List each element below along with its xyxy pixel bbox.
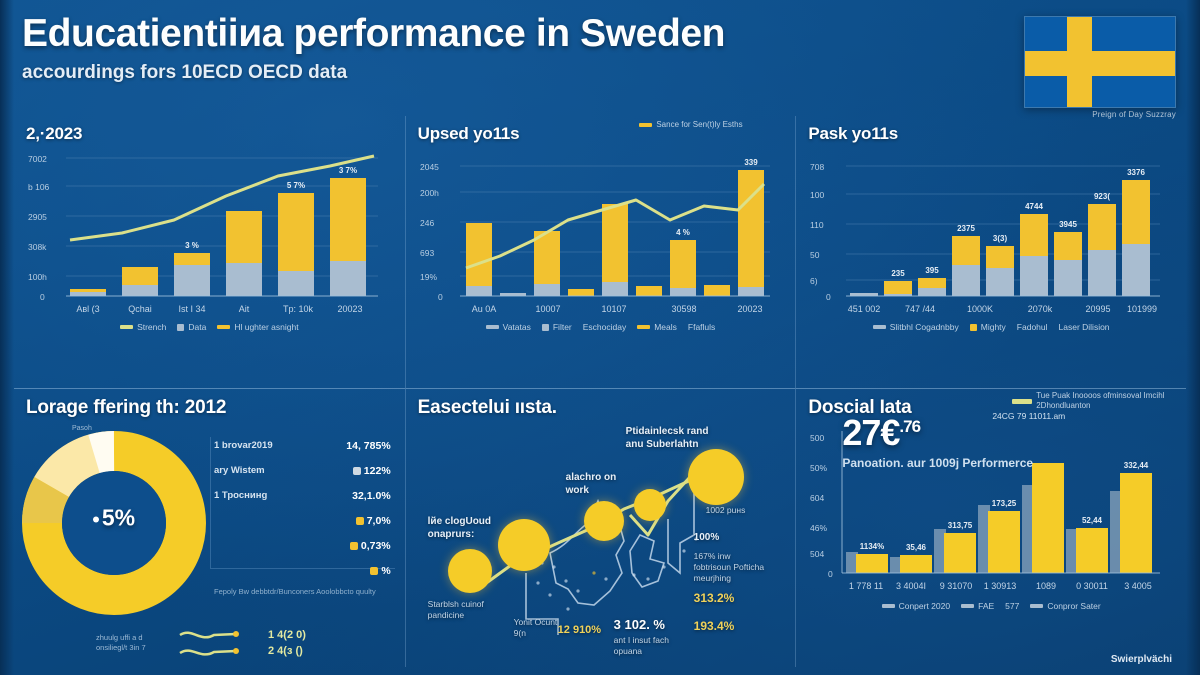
- annotation: 313.2%: [694, 591, 735, 607]
- flag-block: Preign of Day Suzzray: [1024, 16, 1176, 119]
- legend-item[interactable]: Data: [177, 322, 206, 332]
- legend-item[interactable]: Mighty: [970, 322, 1006, 332]
- bubble-marker[interactable]: [584, 501, 624, 541]
- svg-text:1000K: 1000K: [967, 304, 993, 314]
- svg-text:0: 0: [828, 569, 833, 579]
- legend-top-right: Slitbhl Cogadnbby Mighty Fadohul Laser D…: [808, 322, 1174, 332]
- donut-callout: Pasoh: [72, 425, 92, 432]
- chart-top-right[interactable]: 708 100 110 50 6) 0: [808, 148, 1174, 316]
- bubble-marker[interactable]: [448, 549, 492, 593]
- x-axis-labels: Au 0A 10007 10107 30598 20023: [471, 304, 762, 314]
- svg-text:246: 246: [420, 218, 434, 228]
- svg-text:747 /44: 747 /44: [905, 304, 935, 314]
- sweden-flag-icon: [1024, 16, 1176, 108]
- donut-legend: 1 brovar2019 14, 785% ary Wistem 122% 1 …: [208, 423, 393, 613]
- annotation: 3 102. %: [614, 617, 665, 634]
- legend-item[interactable]: Strench: [120, 322, 166, 332]
- kpi-subtitle: Panoation. aur 1009j Performerce: [842, 456, 1033, 472]
- chart-top-center[interactable]: 2045 200h 246 693 19% 0: [418, 148, 784, 316]
- svg-text:2045: 2045: [420, 162, 439, 172]
- panel-grid: 2,·2023 7002 b 106 2905 308k 100h 0: [14, 116, 1186, 667]
- svg-text:0: 0: [826, 292, 831, 302]
- legend-item[interactable]: Ffafluls: [688, 322, 715, 332]
- svg-text:Ist I 34: Ist I 34: [178, 304, 205, 314]
- legend-item[interactable]: Tue Puak Inoooos ofminsoval Imcihl 2Dhon…: [1012, 391, 1180, 411]
- svg-text:4 %: 4 %: [676, 228, 690, 237]
- svg-text:50: 50: [810, 250, 820, 260]
- chart-bottom-left[interactable]: Pasoh 5%: [26, 423, 202, 613]
- chart-note: 24CG 79 11011.am: [992, 411, 1124, 422]
- svg-text:451 002: 451 002: [848, 304, 881, 314]
- panel-top-left: 2,·2023 7002 b 106 2905 308k 100h 0: [14, 116, 405, 388]
- legend-top-left: Strench Data Hl ughter asnight: [26, 322, 393, 332]
- annotation: 193.4%: [694, 619, 735, 635]
- svg-text:339: 339: [744, 158, 758, 167]
- donut-slice-4[interactable]: [94, 451, 114, 454]
- svg-text:2905: 2905: [28, 212, 47, 222]
- svg-text:b 106: b 106: [28, 182, 50, 192]
- svg-text:Ait: Ait: [239, 304, 250, 314]
- legend-item[interactable]: Vatatas: [486, 322, 531, 332]
- svg-text:110: 110: [810, 220, 824, 230]
- y-axis-labels: 7002 b 106 2905 308k 100h 0: [28, 154, 50, 302]
- svg-text:500: 500: [810, 433, 824, 443]
- legend-item[interactable]: 577: [1005, 601, 1019, 611]
- legend-bottom-right: Conpert 2020 FAE 577 Conpror Sater: [808, 601, 1174, 611]
- svg-text:604: 604: [810, 493, 824, 503]
- svg-text:5 7%: 5 7%: [287, 181, 305, 190]
- svg-text:235: 235: [892, 269, 906, 278]
- bars: [70, 178, 366, 296]
- svg-text:3 7%: 3 7%: [339, 166, 357, 175]
- svg-text:100: 100: [810, 190, 824, 200]
- legend-item[interactable]: Conpror Sater: [1030, 601, 1100, 611]
- svg-text:0: 0: [40, 292, 45, 302]
- svg-text:173,25: 173,25: [992, 499, 1017, 508]
- svg-text:20023: 20023: [737, 304, 762, 314]
- svg-text:1089: 1089: [1036, 581, 1056, 591]
- legend-item[interactable]: Slitbhl Cogadnbby: [873, 322, 959, 332]
- svg-text:35,46: 35,46: [906, 543, 927, 552]
- svg-text:3376: 3376: [1127, 168, 1145, 177]
- annotation: alachro on work: [566, 471, 636, 497]
- svg-text:1 30913: 1 30913: [984, 581, 1017, 591]
- annotation: 12 910%: [558, 623, 601, 637]
- legend-item[interactable]: Fadohul: [1017, 322, 1048, 332]
- panel-bottom-left: Lorage ffering th: 2012 Pasoh: [14, 388, 405, 667]
- svg-text:693: 693: [420, 248, 434, 258]
- svg-text:332,44: 332,44: [1124, 461, 1149, 470]
- y-axis-labels: 708 100 110 50 6) 0: [810, 162, 831, 302]
- right-edge-shade: [1186, 0, 1200, 675]
- chart-title-bottom-center: Easectelui ıısta.: [418, 397, 784, 419]
- svg-text:3 4005: 3 4005: [1125, 581, 1153, 591]
- legend-item[interactable]: Laser Dilision: [1059, 322, 1110, 332]
- svg-text:19%: 19%: [420, 272, 437, 282]
- svg-text:30598: 30598: [671, 304, 696, 314]
- x-axis-labels: 1 778 11 3 4004I 9 31070 1 30913 1089 0 …: [849, 581, 1152, 591]
- chart-title-bottom-left: Lorage ffering th: 2012: [26, 397, 393, 419]
- svg-text:504: 504: [810, 549, 824, 559]
- annotation: 100%: [694, 531, 720, 544]
- chart-top-left[interactable]: 7002 b 106 2905 308k 100h 0: [26, 148, 393, 316]
- bars: [466, 170, 764, 296]
- page-title: Educatientiiиa performance in Sweden: [22, 12, 1180, 56]
- infographic-canvas: Educatientiiиa performance in Sweden acc…: [0, 0, 1200, 675]
- legend-item[interactable]: Hl ughter asnight: [217, 322, 298, 332]
- svg-text:50%: 50%: [810, 463, 827, 473]
- y-axis-labels: 500 50% 604 46% 504 0: [810, 433, 833, 579]
- x-axis-labels: 451 002 747 /44 1000K 2070k 20995 101999: [848, 304, 1157, 314]
- legend-item[interactable]: FAE: [961, 601, 994, 611]
- svg-text:20023: 20023: [337, 304, 362, 314]
- svg-text:1134%: 1134%: [860, 542, 884, 551]
- panel-top-center: Upsed yo11s Sance for Sen(t)ly Esths 204…: [405, 116, 796, 388]
- svg-text:0: 0: [438, 292, 443, 302]
- legend-top-center: Vatatas Filter Eschociday Meals Ffafluls: [418, 322, 784, 332]
- legend-bottom-right-inline: Tue Puak Inoooos ofminsoval Imcihl 2Dhon…: [1012, 391, 1180, 411]
- svg-text:0 30011: 0 30011: [1076, 581, 1108, 591]
- svg-text:20995: 20995: [1086, 304, 1111, 314]
- footer-sparklines: [178, 623, 258, 663]
- chart-title-top-left: 2,·2023: [26, 124, 393, 144]
- y-axis-labels: 2045 200h 246 693 19% 0: [420, 162, 443, 302]
- trend-line: [70, 156, 374, 240]
- svg-text:3(3): 3(3): [993, 234, 1008, 243]
- legend-row[interactable]: 0,73%: [214, 533, 391, 558]
- annotation: lйe clogUoud onaprurs:: [428, 515, 510, 541]
- svg-text:313,75: 313,75: [948, 521, 973, 530]
- svg-text:101999: 101999: [1127, 304, 1157, 314]
- svg-text:708: 708: [810, 162, 824, 172]
- svg-text:9 31070: 9 31070: [940, 581, 973, 591]
- legend-item[interactable]: Meals: [637, 322, 677, 332]
- legend-row[interactable]: %: [214, 558, 391, 583]
- header: Educatientiiиa performance in Sweden acc…: [22, 12, 1180, 116]
- legend-row[interactable]: 7,0%: [214, 508, 391, 533]
- svg-text:200h: 200h: [420, 188, 439, 198]
- footer-marks: 1 4(2 0) 2 4(з (): [268, 627, 306, 660]
- legend-item[interactable]: Sance for Sen(t)ly Esths: [639, 120, 742, 130]
- left-edge-shade: [0, 0, 14, 675]
- footer-text: zhuulg uffi a d onsiliegl/t 3in 7: [96, 633, 168, 653]
- watermark: Swierplvächi: [1111, 654, 1172, 665]
- panel-bottom-center: Easectelui ıısta.: [405, 388, 796, 667]
- svg-text:2070k: 2070k: [1028, 304, 1053, 314]
- svg-text:52,44: 52,44: [1082, 516, 1103, 525]
- svg-text:3 %: 3 %: [185, 241, 199, 250]
- x-axis-labels: Aвl (3 Qchai Ist I 34 Ait Tp: 10k 20023: [76, 304, 362, 314]
- panel-bottom-right: Doscial Iata 27€.76 Panoation. aur 1009j…: [795, 388, 1186, 667]
- svg-text:395: 395: [926, 266, 940, 275]
- legend-item[interactable]: Filter: [542, 322, 572, 332]
- page-subtitle: accourdings fors 10ECD OECD data: [22, 62, 1180, 84]
- legend-top-center-inline: Sance for Sen(t)ly Esths: [639, 120, 789, 130]
- donut-center-value: 5%: [26, 505, 202, 532]
- svg-text:Qchai: Qchai: [128, 304, 152, 314]
- legend-row[interactable]: 1 brovar2019 14, 785%: [214, 433, 391, 458]
- svg-text:7002: 7002: [28, 154, 47, 164]
- svg-text:923(: 923(: [1094, 192, 1110, 201]
- annotation: Ptidainlecsk rand anu Suberlahtn: [626, 425, 716, 451]
- svg-text:4744: 4744: [1025, 202, 1043, 211]
- svg-text:3945: 3945: [1059, 220, 1077, 229]
- svg-text:308k: 308k: [28, 242, 47, 252]
- svg-text:6): 6): [810, 276, 818, 286]
- svg-text:Tp: 10k: Tp: 10k: [283, 304, 314, 314]
- annotation: ant I insut fach opuana: [614, 635, 692, 657]
- bubble-marker[interactable]: [688, 449, 744, 505]
- chart-bottom-center[interactable]: Ptidainlecsk rand anu Suberlahtn alachro…: [418, 423, 784, 651]
- svg-text:1 778 11: 1 778 11: [849, 581, 883, 591]
- svg-text:Aвl (3: Aвl (3: [76, 304, 99, 314]
- donut-note: Fepoly Bw debbtdr/Bunconers Aoolobbcto q…: [214, 587, 391, 597]
- svg-text:100h: 100h: [28, 272, 47, 282]
- legend-item[interactable]: Conpert 2020: [882, 601, 951, 611]
- svg-text:10007: 10007: [535, 304, 560, 314]
- svg-text:2375: 2375: [957, 224, 975, 233]
- svg-text:3 4004I: 3 4004I: [896, 581, 926, 591]
- legend-item[interactable]: Eschociday: [583, 322, 626, 332]
- legend-row[interactable]: ary Wistem 122%: [214, 458, 391, 483]
- legend-row[interactable]: 1 Троснинg 32,1.0%: [214, 483, 391, 508]
- annotation: Starblsh cuinof pandicine: [428, 599, 498, 621]
- annotation: 1002 puнs: [706, 505, 768, 516]
- kpi-block: 27€.76 Panoation. aur 1009j Performerce: [842, 415, 1033, 472]
- svg-text:Au 0A: Au 0A: [471, 304, 496, 314]
- bottom-left-footer: zhuulg uffi a d onsiliegl/t 3in 7 1 4(2 …: [26, 623, 393, 663]
- chart-title-top-right: Pask yo11s: [808, 124, 1174, 144]
- svg-text:46%: 46%: [810, 523, 827, 533]
- bars: [856, 463, 1152, 573]
- bubble-marker[interactable]: [634, 489, 666, 521]
- panel-top-right: Pask yo11s 708 100 110 50 6) 0: [795, 116, 1186, 388]
- svg-text:10107: 10107: [601, 304, 626, 314]
- annotation: 167% inw fobtrisoun Pofticha meurjhing: [694, 551, 766, 584]
